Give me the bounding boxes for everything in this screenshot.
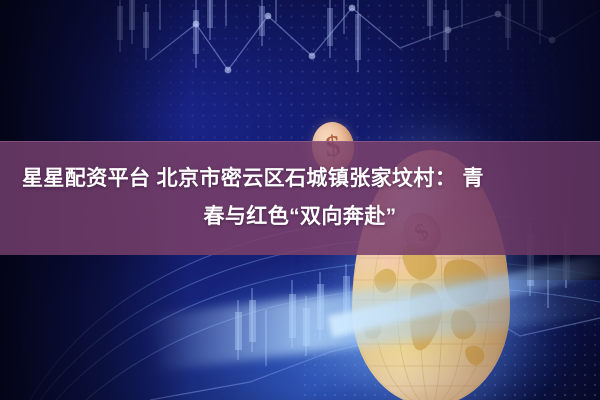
caption-text: 星星配资平台 北京市密云区石城镇张家坟村： 青 春与红色“双向奔赴” bbox=[0, 141, 600, 255]
caption-line-1: 星星配资平台 北京市密云区石城镇张家坟村： 青 bbox=[22, 160, 484, 198]
caption-line-2: 春与红色“双向奔赴” bbox=[204, 198, 397, 236]
banner-image: $ $ 星星配资平台 北京市密云区石城镇张家坟村： 青 春与红色“双向奔赴” bbox=[0, 0, 600, 400]
